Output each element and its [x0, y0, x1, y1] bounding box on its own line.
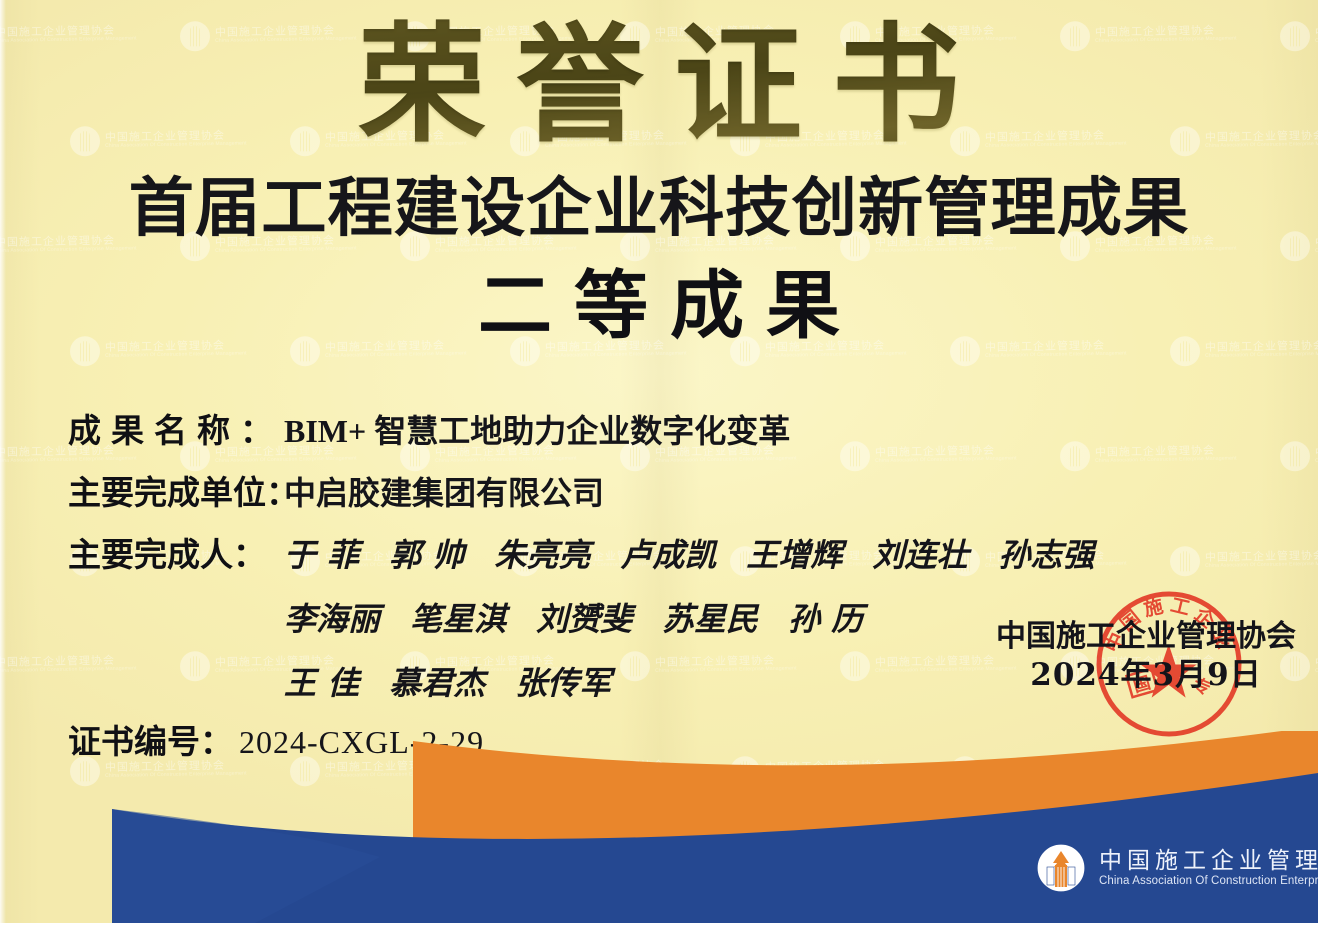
contributor-name: 笔星淇: [410, 594, 506, 640]
contributor-name: 苏星民: [662, 594, 758, 640]
issuer-block: 中国施工企业管理协会 2024年3月9日: [996, 618, 1296, 694]
contributor-row: 主要完成人：于 菲郭 帅朱亮亮卢成凯王增辉刘连壮孙志强: [68, 528, 1248, 576]
contributor-name: 朱亮亮: [494, 530, 590, 576]
watermark-en: China Association Of Construction Enterp…: [325, 352, 467, 360]
issue-date: 2024年3月9日: [996, 656, 1296, 695]
watermark-en: China Association Of Construction Enterp…: [215, 247, 357, 255]
contributor-name: 李海丽: [284, 594, 380, 640]
contributor-name: 于 菲: [284, 530, 359, 576]
contributor-name: 卢成凯: [620, 530, 716, 576]
watermark-en: China Association Of Construction Enterp…: [985, 352, 1127, 360]
watermark-en: China Association Of Construction Enterp…: [1095, 247, 1237, 255]
watermark-en: China Association Of Construction Enterp…: [875, 247, 1017, 255]
main-unit-value: 中启胶建集团有限公司: [284, 468, 604, 514]
footer-logo: 中国施工企业管理 China Association Of Constructi…: [1036, 843, 1318, 893]
association-watermark-icon: [1280, 441, 1311, 472]
main-unit-label: 主要完成单位：: [68, 466, 284, 514]
bottom-decoration: [0, 731, 1318, 931]
building-circle-logo-icon: [1036, 843, 1086, 893]
contributor-name: 王 佳: [284, 658, 359, 704]
achievement-name-label: 成果名称：: [68, 404, 284, 452]
watermark-en: China Association Of Construction Enterp…: [0, 247, 137, 255]
achievement-name-value: BIM+ 智慧工地助力企业数字化变革: [284, 406, 790, 452]
watermark-en: China Association Of Construction Enterp…: [1205, 352, 1318, 360]
page-title: 荣誉证书: [0, 18, 1318, 152]
contributor-name: 慕君杰: [389, 658, 485, 704]
watermark-en: China Association Of Construction Enterp…: [545, 352, 687, 360]
page-bottom-edge: [0, 923, 1318, 931]
watermark-en: China Association Of Construction Enterp…: [105, 352, 247, 360]
main-contributors-label: 主要完成人：: [68, 528, 284, 576]
contributor-name: 王增辉: [746, 530, 842, 576]
issuer-name: 中国施工企业管理协会: [996, 618, 1296, 656]
footer-logo-text: 中国施工企业管理 China Association Of Constructi…: [1099, 848, 1318, 888]
watermark-en: China Association Of Construction Enterp…: [435, 247, 577, 255]
watermark-item: 中国施工企业管理协会China Association Of Construct…: [1280, 438, 1318, 471]
contributor-name: 孙志强: [998, 530, 1094, 576]
contributor-name: 刘赟斐: [536, 594, 632, 640]
contributor-name: 张传军: [515, 658, 611, 704]
watermark-en: China Association Of Construction Enterp…: [655, 247, 797, 255]
certificate-subtitle: 首届工程建设企业科技创新管理成果: [0, 175, 1318, 242]
award-level: 二等成果: [0, 268, 1318, 346]
footer-logo-en: China Association Of Construction Enterp…: [1099, 875, 1318, 888]
contributor-name: 郭 帅: [389, 530, 464, 576]
field-achievement-name: 成果名称： BIM+ 智慧工地助力企业数字化变革: [68, 404, 1248, 452]
contributor-name: 孙 历: [788, 594, 863, 640]
certificate-page: 中国施工企业管理协会China Association Of Construct…: [0, 0, 1318, 931]
footer-logo-cn: 中国施工企业管理: [1099, 848, 1318, 873]
field-main-unit: 主要完成单位： 中启胶建集团有限公司: [68, 466, 1248, 514]
contributor-name: 刘连壮: [872, 530, 968, 576]
watermark-en: China Association Of Construction Enterp…: [765, 352, 907, 360]
